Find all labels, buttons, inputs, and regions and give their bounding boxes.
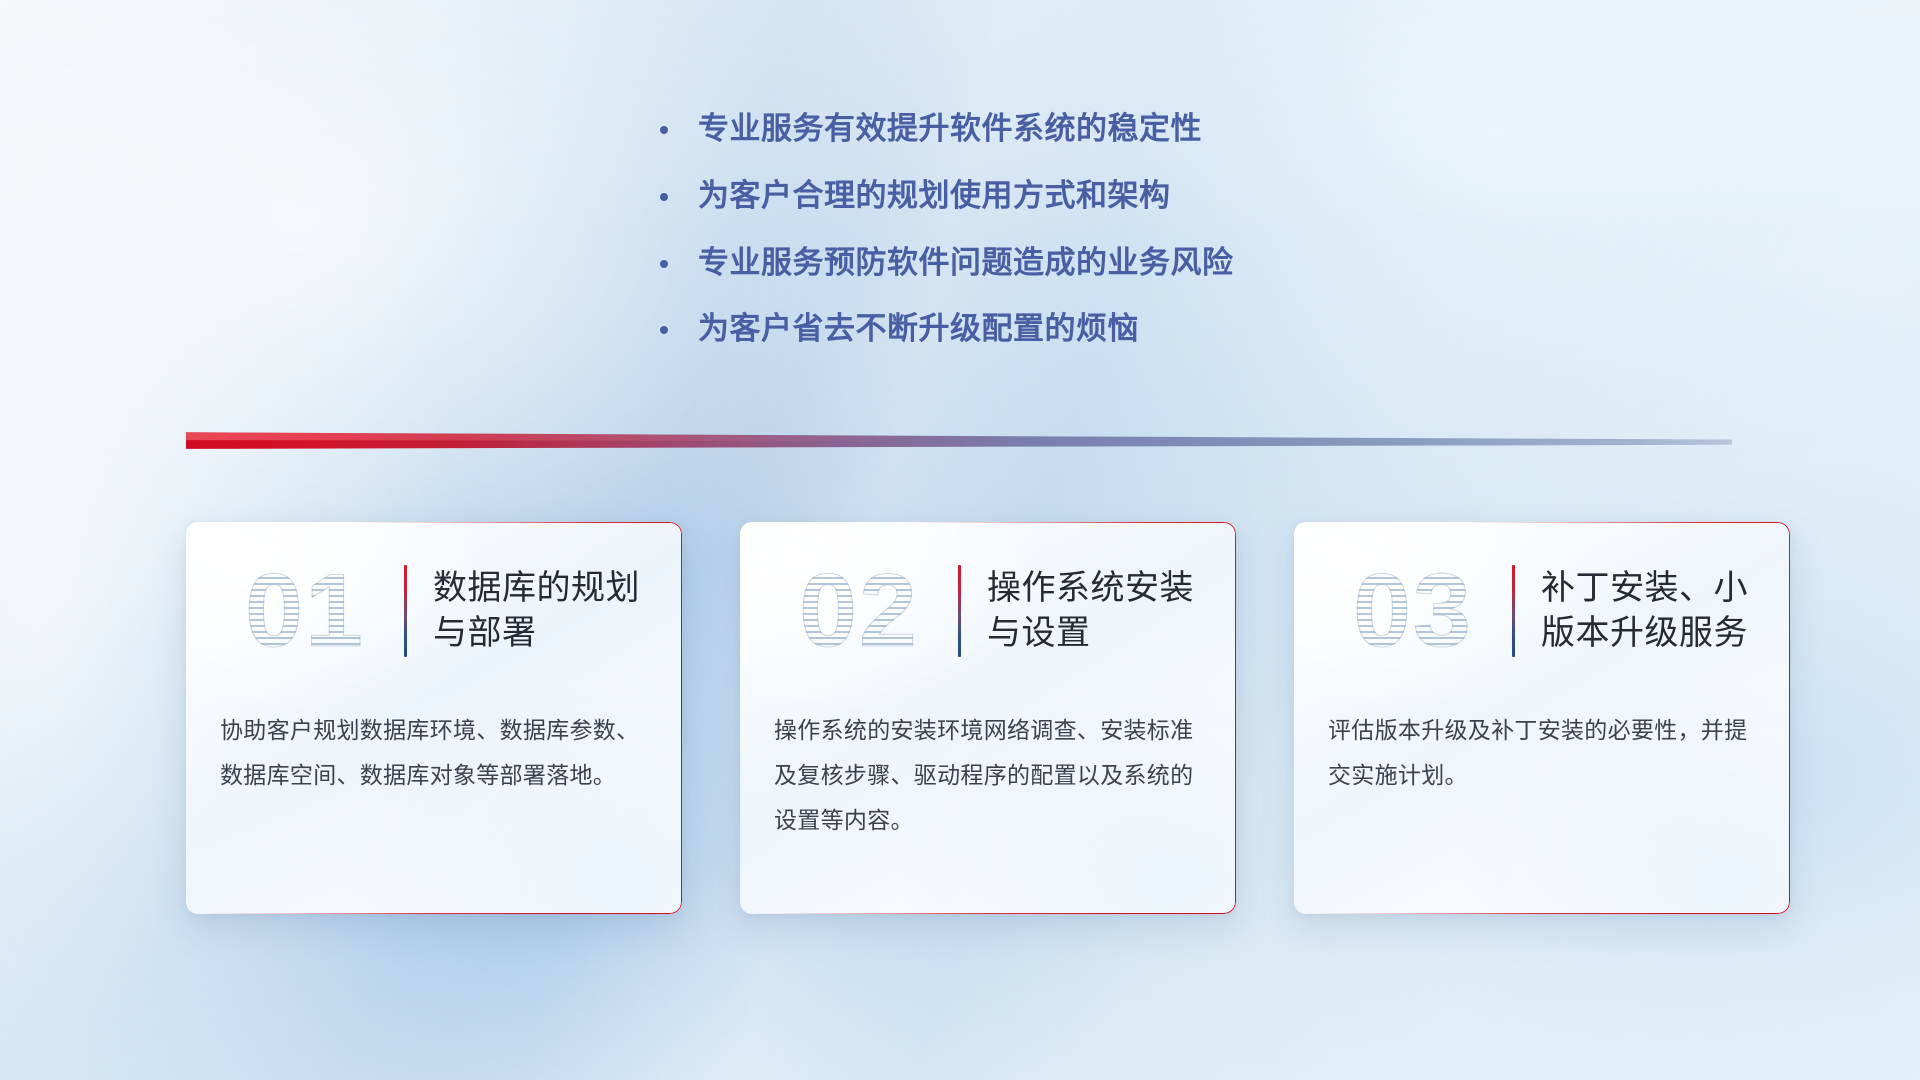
list-item: 为客户省去不断升级配置的烦恼: [660, 310, 1420, 349]
bullet-text: 为客户省去不断升级配置的烦恼: [698, 310, 1139, 349]
bullet-text: 专业服务有效提升软件系统的稳定性: [698, 110, 1202, 149]
card-separator-rule: [404, 565, 407, 657]
card-title: 数据库的规划与部署: [433, 566, 652, 656]
benefits-bullet-list: 专业服务有效提升软件系统的稳定性 为客户合理的规划使用方式和架构 专业服务预防软…: [660, 110, 1420, 377]
service-card[interactable]: 02 操作系统安装与设置 操作系统的安装环境网络调查、安装标准及复核步骤、驱动程…: [740, 522, 1236, 914]
card-description: 评估版本升级及补丁安装的必要性，并提交实施计划。: [1294, 672, 1790, 798]
service-card-group: 01 数据库的规划与部署 协助客户规划数据库环境、数据库参数、数据库空间、数据库…: [186, 522, 1790, 914]
card-number: 03: [1318, 559, 1508, 663]
card-header: 03 补丁安装、小版本升级服务: [1294, 522, 1790, 672]
bullet-dot-icon: [660, 193, 668, 201]
list-item: 为客户合理的规划使用方式和架构: [660, 177, 1420, 216]
card-separator-rule: [958, 565, 961, 657]
card-number: 01: [210, 559, 400, 663]
card-title: 操作系统安装与设置: [987, 566, 1206, 656]
card-header: 02 操作系统安装与设置: [740, 522, 1236, 672]
bullet-dot-icon: [660, 126, 668, 134]
bullet-dot-icon: [660, 260, 668, 268]
slide-root: 专业服务有效提升软件系统的稳定性 为客户合理的规划使用方式和架构 专业服务预防软…: [0, 0, 1920, 1080]
card-title: 补丁安装、小版本升级服务: [1541, 566, 1760, 656]
card-description: 协助客户规划数据库环境、数据库参数、数据库空间、数据库对象等部署落地。: [186, 672, 682, 798]
card-number: 02: [764, 559, 954, 663]
bullet-text: 为客户合理的规划使用方式和架构: [698, 177, 1171, 216]
bullet-dot-icon: [660, 326, 668, 334]
card-header: 01 数据库的规划与部署: [186, 522, 682, 672]
list-item: 专业服务有效提升软件系统的稳定性: [660, 110, 1420, 149]
service-card[interactable]: 03 补丁安装、小版本升级服务 评估版本升级及补丁安装的必要性，并提交实施计划。: [1294, 522, 1790, 914]
card-separator-rule: [1512, 565, 1515, 657]
bullet-text: 专业服务预防软件问题造成的业务风险: [698, 244, 1234, 283]
list-item: 专业服务预防软件问题造成的业务风险: [660, 244, 1420, 283]
card-description: 操作系统的安装环境网络调查、安装标准及复核步骤、驱动程序的配置以及系统的设置等内…: [740, 672, 1236, 843]
service-card[interactable]: 01 数据库的规划与部署 协助客户规划数据库环境、数据库参数、数据库空间、数据库…: [186, 522, 682, 914]
section-divider: [186, 425, 1732, 451]
